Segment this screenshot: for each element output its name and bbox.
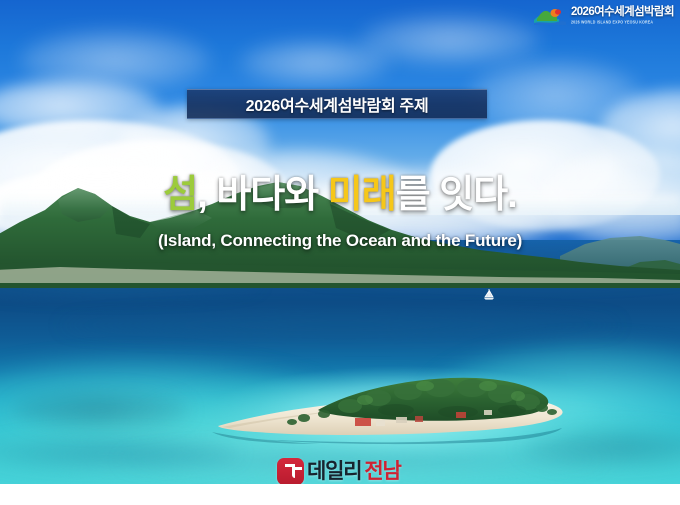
bottom-white-plate (0, 484, 680, 505)
headline-segment-sea: , 바다와 (197, 174, 328, 216)
headline-segment-island: 섬 (163, 174, 197, 216)
theme-headline: 섬, 바다와 미래를 잇다. (0, 176, 680, 216)
foreground-motu-islet (200, 352, 600, 462)
sailboat-icon (482, 288, 496, 302)
expo-logo-subtitle: 2026 WORLD ISLAND EXPO YEOSU KOREA (571, 21, 674, 25)
expo-logo[interactable]: 2026여수세계섬박람회 2026 WORLD ISLAND EXPO YEOS… (533, 4, 674, 28)
coral-patch (10, 390, 190, 430)
hero-photo: 2026여수세계섬박람회 2026 WORLD ISLAND EXPO YEOS… (0, 0, 680, 484)
watermark-text-daily: 데일리 (307, 461, 361, 482)
water-streak (60, 312, 620, 338)
expo-logo-text: 2026여수세계섬박람회 2026 WORLD ISLAND EXPO YEOS… (571, 7, 674, 24)
screenshot-root: 2026여수세계섬박람회 2026 WORLD ISLAND EXPO YEOS… (0, 0, 680, 505)
daily-jeonnam-badge-icon (277, 458, 304, 485)
headline-segment-connect: 를 잇다. (396, 174, 517, 216)
title-banner-text: 2026여수세계섬박람회 주제 (246, 92, 429, 116)
watermark-text-jeonnam: 전남 (364, 461, 400, 482)
title-banner: 2026여수세계섬박람회 주제 (187, 89, 487, 119)
theme-subheadline: (Island, Connecting the Ocean and the Fu… (0, 231, 680, 251)
headline-segment-future: 미래 (328, 174, 396, 216)
expo-mountain-wave-icon (533, 6, 567, 26)
daily-jeonnam-watermark: 데일리전남 (277, 456, 401, 484)
expo-logo-title: 2026여수세계섬박람회 (571, 7, 674, 19)
cloud (360, 15, 540, 65)
